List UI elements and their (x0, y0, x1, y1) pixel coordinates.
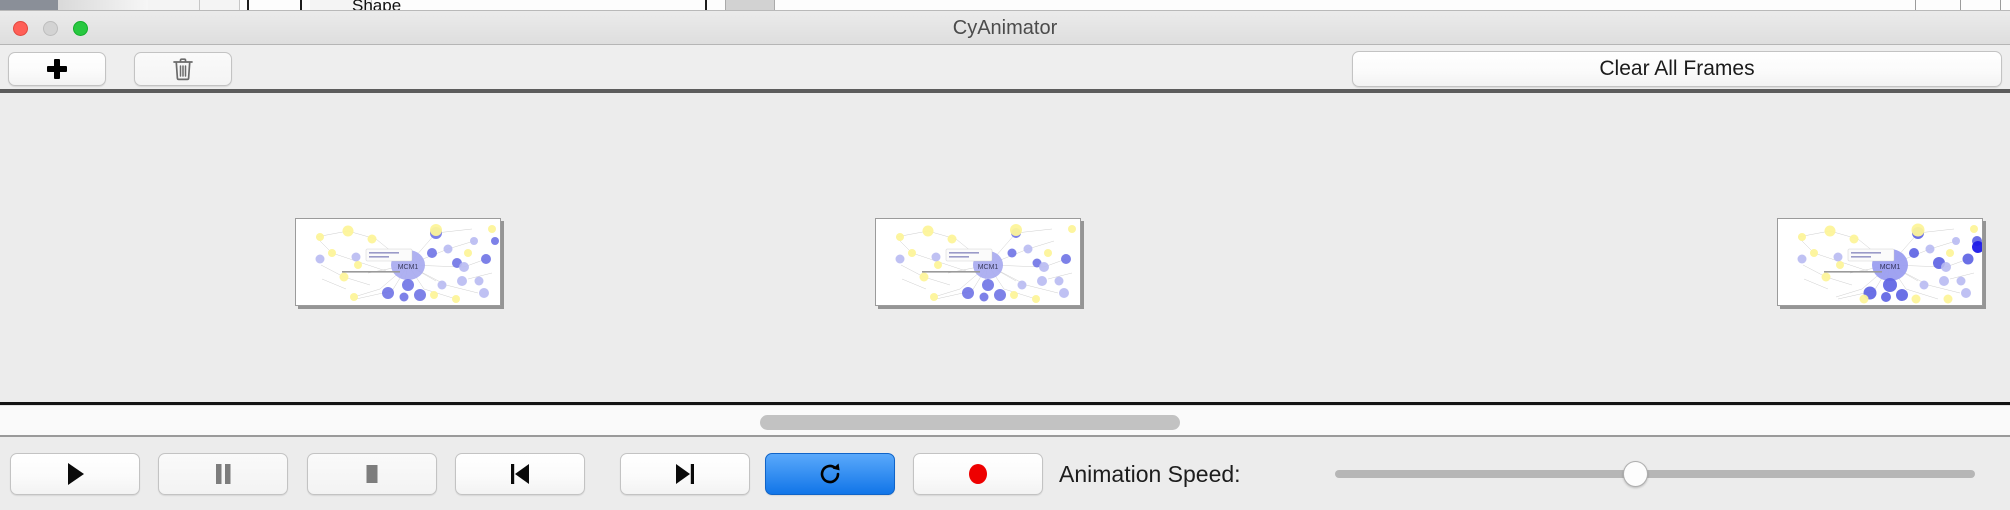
play-icon (63, 461, 87, 487)
frame-thumbnail-3[interactable]: MCM1 (1777, 218, 1983, 306)
background-window-sliver[interactable]: Shape (0, 0, 2010, 11)
slider-track[interactable] (1335, 470, 1975, 478)
loop-button[interactable] (765, 453, 895, 495)
bg-window-mark (300, 0, 302, 11)
scrollbar-thumb[interactable] (760, 415, 1180, 430)
frame-thumbnail-1[interactable]: MCM1 (295, 218, 501, 306)
record-button[interactable] (913, 453, 1043, 495)
skip-to-end-button[interactable] (620, 453, 750, 495)
stop-button[interactable] (307, 453, 437, 495)
bg-window-divider (2000, 0, 2001, 11)
pause-icon (211, 461, 235, 487)
bg-window-box (725, 0, 775, 11)
animation-speed-label: Animation Speed: (1059, 453, 1241, 495)
transport-bar: Animation Speed: (0, 439, 2010, 510)
svg-text:MCM1: MCM1 (978, 264, 999, 271)
window-title: CyAnimator (0, 11, 2010, 45)
pause-button[interactable] (158, 453, 288, 495)
bg-window-gradient (58, 0, 148, 11)
delete-frame-button[interactable] (134, 52, 232, 86)
bg-window-cell (148, 0, 200, 11)
title-bar[interactable]: CyAnimator (0, 11, 2010, 45)
svg-text:MCM1: MCM1 (398, 264, 419, 271)
toolbar: Clear All Frames (0, 45, 2010, 90)
stop-icon (360, 461, 384, 487)
loop-icon (817, 461, 843, 487)
skip-to-start-button[interactable] (455, 453, 585, 495)
bg-window-label: Shape (352, 0, 401, 11)
trash-icon (172, 57, 194, 81)
skip-back-icon (507, 461, 533, 487)
svg-text:MCM1: MCM1 (1880, 264, 1901, 271)
bg-window-titlebar-chip (0, 0, 58, 11)
plus-icon (46, 58, 68, 80)
animation-speed-slider[interactable] (1335, 453, 1975, 495)
bg-window-mark (247, 0, 249, 11)
bg-window-divider (1960, 0, 1961, 11)
play-button[interactable] (10, 453, 140, 495)
clear-all-frames-button[interactable]: Clear All Frames (1352, 51, 2002, 87)
add-frame-button[interactable] (8, 52, 106, 86)
frame-thumbnail-2[interactable]: MCM1 (875, 218, 1081, 306)
slider-thumb[interactable] (1623, 461, 1648, 487)
bg-window-cell (200, 0, 240, 11)
skip-forward-icon (672, 461, 698, 487)
bg-window-mark (705, 0, 707, 11)
record-icon (965, 461, 991, 487)
clear-all-frames-label: Clear All Frames (1599, 57, 1754, 81)
timeline-panel[interactable]: MCM1 (0, 93, 2010, 405)
cyanimator-window: Shape CyAnimator Cl (0, 0, 2010, 510)
bg-window-divider (1915, 0, 1916, 11)
timeline-scrollbar[interactable] (0, 405, 2010, 437)
